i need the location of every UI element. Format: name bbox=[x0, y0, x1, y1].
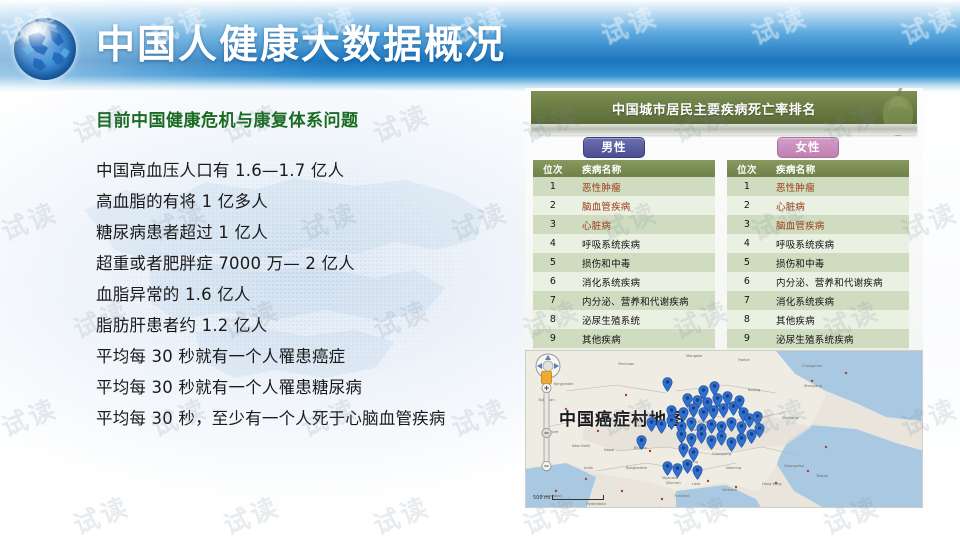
cell-disease: 恶性肿瘤 bbox=[767, 177, 909, 196]
table-row: 9 其他疾病 bbox=[533, 329, 715, 348]
mortality-rank-card: 中国城市居民主要疾病死亡率排名 男性 女性 位次 疾病名称 bbox=[525, 88, 923, 360]
list-item: 中国高血压人口有 1.6—1.7 亿人 bbox=[96, 155, 496, 186]
cell-rank: 6 bbox=[727, 272, 767, 291]
cell-rank: 8 bbox=[533, 310, 573, 329]
svg-text:Thailand: Thailand bbox=[673, 494, 689, 498]
rank-card-header: 中国城市居民主要疾病死亡率排名 bbox=[531, 91, 917, 124]
cell-disease: 损伤和中毒 bbox=[573, 253, 715, 272]
cell-rank: 1 bbox=[727, 177, 767, 196]
svg-text:Kyrgyzstan: Kyrgyzstan bbox=[554, 382, 574, 386]
cell-rank: 3 bbox=[533, 215, 573, 234]
cell-disease: 其他疾病 bbox=[573, 329, 715, 348]
table-row: 5 损伤和中毒 bbox=[533, 253, 715, 272]
globe-highlight bbox=[20, 22, 58, 47]
column-header-rank: 位次 bbox=[533, 160, 573, 177]
svg-text:Guangzhou: Guangzhou bbox=[784, 464, 804, 468]
map-pin-icon[interactable] bbox=[734, 395, 745, 410]
cell-disease: 内分泌、营养和代谢疾病 bbox=[767, 272, 909, 291]
svg-text:Shenyang: Shenyang bbox=[804, 384, 822, 388]
map-pin-icon[interactable] bbox=[636, 435, 647, 450]
section-subtitle: 目前中国健康危机与康复体系问题 bbox=[96, 106, 359, 131]
table-row: 7 消化系统疾病 bbox=[727, 291, 909, 310]
svg-text:Taiwan: Taiwan bbox=[815, 474, 828, 478]
cell-rank: 7 bbox=[533, 291, 573, 310]
table-row: 2 脑血管疾病 bbox=[533, 196, 715, 215]
table-row: 8 泌尿生殖系统 bbox=[533, 310, 715, 329]
page-title: 中国人健康大数据概况 bbox=[96, 21, 506, 71]
right-panel: 中国城市居民主要疾病死亡率排名 男性 女性 位次 疾病名称 bbox=[521, 88, 941, 510]
list-item: 血脂异常的 1.6 亿人 bbox=[96, 279, 496, 310]
cell-rank: 6 bbox=[533, 272, 573, 291]
cancer-village-map[interactable]: Mongolia China India Nepal Bhutan Bangla… bbox=[525, 350, 923, 508]
presentation-slide: 中国人健康大数据概况 目前中国健康危机与康复体系问题 中国高血压人口有 1.6—… bbox=[0, 0, 960, 540]
table-row: 2 心脏病 bbox=[727, 196, 909, 215]
cell-rank: 7 bbox=[727, 291, 767, 310]
table-row: 1 恶性肿瘤 bbox=[533, 177, 715, 196]
list-item: 平均每 30 秒，至少有一个人死于心脑血管疾病 bbox=[96, 403, 496, 434]
male-badge: 男性 bbox=[583, 137, 645, 158]
table-row: 4 呼吸系统疾病 bbox=[533, 234, 715, 253]
list-item: 高血脂的有将 1 亿多人 bbox=[96, 186, 496, 217]
list-item: 平均每 30 秒就有一个人罹患糖尿病 bbox=[96, 372, 496, 403]
cell-disease: 心脏病 bbox=[573, 215, 715, 234]
table-row: 3 心脏病 bbox=[533, 215, 715, 234]
table-header-row: 位次 疾病名称 bbox=[533, 160, 715, 177]
cell-disease: 泌尿生殖系统 bbox=[573, 310, 715, 329]
map-scale-bar: 500 mi bbox=[533, 495, 604, 501]
svg-text:Nepal: Nepal bbox=[604, 448, 614, 452]
table-row: 6 内分泌、营养和代谢疾病 bbox=[727, 272, 909, 291]
bullet-list: 中国高血压人口有 1.6—1.7 亿人 高血脂的有将 1 亿多人 糖尿病患者超过… bbox=[96, 155, 496, 434]
male-rank-table: 位次 疾病名称 1 恶性肿瘤 2 脑血管疾病 3 心脏病 bbox=[533, 160, 715, 360]
cell-rank: 4 bbox=[533, 234, 573, 253]
svg-text:Laos: Laos bbox=[692, 482, 700, 486]
map-pin-icon[interactable] bbox=[692, 465, 703, 480]
cell-disease: 内分泌、营养和代谢疾病 bbox=[573, 291, 715, 310]
svg-text:Beijing: Beijing bbox=[748, 388, 760, 392]
cell-disease: 心脏病 bbox=[767, 196, 909, 215]
zoom-slider-icon[interactable] bbox=[539, 371, 554, 475]
svg-text:India: India bbox=[584, 466, 593, 470]
table-header-row: 位次 疾病名称 bbox=[727, 160, 909, 177]
table-row: 1 恶性肿瘤 bbox=[727, 177, 909, 196]
map-pin-icon[interactable] bbox=[662, 377, 673, 392]
table-row: 6 消化系统疾病 bbox=[533, 272, 715, 291]
cell-rank: 3 bbox=[727, 215, 767, 234]
table-row: 5 损伤和中毒 bbox=[727, 253, 909, 272]
cell-rank: 4 bbox=[727, 234, 767, 253]
list-item: 超重或者肥胖症 7000 万— 2 亿人 bbox=[96, 248, 496, 279]
globe-icon bbox=[14, 18, 76, 80]
cell-disease: 损伤和中毒 bbox=[767, 253, 909, 272]
column-header-disease: 疾病名称 bbox=[767, 160, 909, 177]
svg-text:Harbin: Harbin bbox=[738, 358, 750, 362]
cell-rank: 5 bbox=[727, 253, 767, 272]
table-row: 9 泌尿生殖系统疾病 bbox=[727, 329, 909, 348]
cell-rank: 9 bbox=[727, 329, 767, 348]
shelf-divider bbox=[531, 124, 917, 135]
female-rank-table: 位次 疾病名称 1 恶性肿瘤 2 心脏病 3 脑血管疾病 bbox=[727, 160, 909, 360]
cell-disease: 泌尿生殖系统疾病 bbox=[767, 329, 909, 348]
svg-text:Yinchuan: Yinchuan bbox=[618, 362, 634, 366]
svg-text:Changchun: Changchun bbox=[802, 364, 822, 368]
cell-rank: 9 bbox=[533, 329, 573, 348]
table-row: 7 内分泌、营养和代谢疾病 bbox=[533, 291, 715, 310]
map-scale-text: 500 mi bbox=[533, 495, 550, 501]
female-badge: 女性 bbox=[777, 137, 839, 158]
table-row: 8 其他疾病 bbox=[727, 310, 909, 329]
svg-text:Bangladesh: Bangladesh bbox=[626, 466, 647, 470]
cell-disease: 消化系统疾病 bbox=[767, 291, 909, 310]
rank-card-title: 中国城市居民主要疾病死亡率排名 bbox=[531, 99, 897, 118]
table-row: 4 呼吸系统疾病 bbox=[727, 234, 909, 253]
svg-text:Chongqing: Chongqing bbox=[712, 452, 731, 456]
cell-disease: 呼吸系统疾病 bbox=[573, 234, 715, 253]
list-item: 脂肪肝患者约 1.2 亿人 bbox=[96, 310, 496, 341]
svg-text:(Burma): (Burma) bbox=[666, 481, 681, 485]
svg-text:Nanning: Nanning bbox=[726, 466, 741, 470]
cell-rank: 2 bbox=[533, 196, 573, 215]
cell-disease: 脑血管疾病 bbox=[767, 215, 909, 234]
svg-text:New Delhi: New Delhi bbox=[572, 444, 590, 448]
svg-text:Yangon: Yangon bbox=[660, 506, 673, 508]
cell-rank: 8 bbox=[727, 310, 767, 329]
column-header-disease: 疾病名称 bbox=[573, 160, 715, 177]
list-item: 平均每 30 秒就有一个人罹患癌症 bbox=[96, 341, 496, 372]
svg-text:Mongolia: Mongolia bbox=[686, 354, 702, 358]
cell-disease: 消化系统疾病 bbox=[573, 272, 715, 291]
table-row: 3 脑血管疾病 bbox=[727, 215, 909, 234]
svg-text:Hyderabad: Hyderabad bbox=[586, 502, 606, 506]
svg-text:Shanghai: Shanghai bbox=[782, 416, 799, 420]
cell-rank: 2 bbox=[727, 196, 767, 215]
svg-text:Hong Kong: Hong Kong bbox=[762, 482, 782, 486]
cell-rank: 5 bbox=[533, 253, 573, 272]
cell-disease: 恶性肿瘤 bbox=[573, 177, 715, 196]
list-item: 糖尿病患者超过 1 亿人 bbox=[96, 217, 496, 248]
cell-disease: 脑血管疾病 bbox=[573, 196, 715, 215]
cell-disease: 其他疾病 bbox=[767, 310, 909, 329]
column-header-rank: 位次 bbox=[727, 160, 767, 177]
svg-text:Vietnam: Vietnam bbox=[722, 488, 737, 492]
cell-disease: 呼吸系统疾病 bbox=[767, 234, 909, 253]
cell-rank: 1 bbox=[533, 177, 573, 196]
map-pin-icon[interactable] bbox=[746, 429, 757, 444]
